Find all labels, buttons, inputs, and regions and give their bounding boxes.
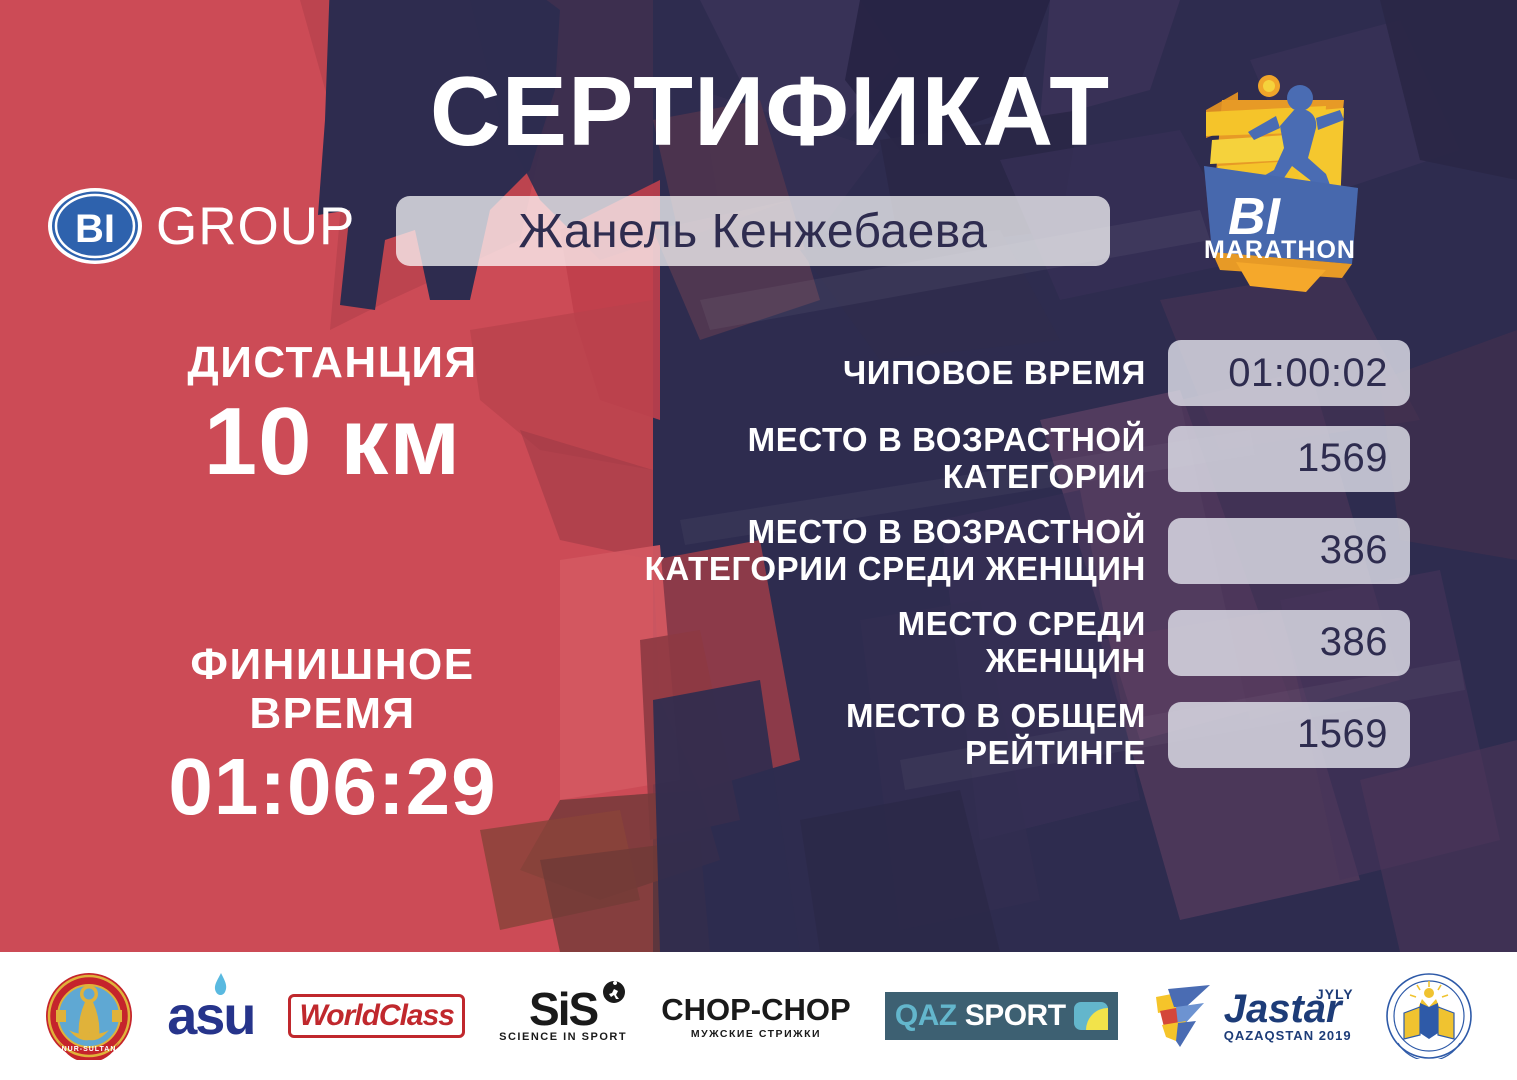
world-class-label-b: Class: [379, 999, 454, 1032]
sponsor-sis-logo: SiS SCIENCE IN SPORT: [499, 970, 627, 1062]
chop-chop-sublabel: МУЖСКИЕ СТРИЖКИ: [661, 1028, 850, 1040]
sponsor-bar: NUR-SULTAN asu WorldClass: [0, 952, 1517, 1080]
result-value: 1569: [1297, 436, 1388, 481]
result-value-pill: 386: [1168, 518, 1410, 584]
bi-marathon-logo: BI MARATHON: [1176, 66, 1404, 298]
result-label: МЕСТО В ВОЗРАСТНОЙ КАТЕГОРИИ: [520, 422, 1168, 496]
qazsport-mark-icon: [1074, 1002, 1108, 1030]
sponsor-qazsport-logo: QAZSPORT: [885, 970, 1118, 1062]
marathon-sub-text: MARATHON: [1204, 236, 1356, 264]
result-value: 386: [1320, 620, 1388, 665]
result-value-pill: 01:00:02: [1168, 340, 1410, 406]
bi-group-logo: BI GROUP: [46, 186, 355, 266]
chop-chop-label: CHOP-CHOP: [661, 992, 850, 1028]
qazsport-label-b: SPORT: [965, 999, 1066, 1033]
sponsor-asu-logo: asu: [167, 970, 254, 1062]
result-label-line2: ЖЕНЩИН: [520, 643, 1146, 680]
result-label: МЕСТО В ВОЗРАСТНОЙ КАТЕГОРИИ СРЕДИ ЖЕНЩИ…: [520, 514, 1168, 588]
sponsor-nur-sultan-emblem: NUR-SULTAN: [45, 970, 133, 1062]
result-label-line1: МЕСТО В ВОЗРАСТНОЙ: [520, 514, 1146, 551]
result-label-line2: КАТЕГОРИИ: [520, 459, 1146, 496]
jastar-jyly-label: JYLY: [1316, 986, 1354, 1002]
jastar-arrow-icon: [1152, 981, 1218, 1051]
bi-badge-icon: BI: [46, 186, 144, 266]
result-row-overall-place: МЕСТО В ОБЩЕМ РЕЙТИНГЕ 1569: [520, 698, 1410, 772]
nur-sultan-label: NUR-SULTAN: [62, 1046, 117, 1053]
result-label-line1: МЕСТО В ВОЗРАСТНОЙ: [520, 422, 1146, 459]
world-class-label-a: World: [299, 999, 378, 1032]
jastar-sublabel: QAZAQSTAN 2019: [1224, 1028, 1352, 1043]
result-label-line1: МЕСТО СРЕДИ: [520, 606, 1146, 643]
sponsor-jastar-jyly-logo: JYLY Jastar QAZAQSTAN 2019: [1152, 970, 1352, 1062]
result-label-line1: МЕСТО В ОБЩЕМ: [520, 698, 1146, 735]
page-title: СЕРТИФИКАТ: [390, 62, 1150, 160]
sponsor-world-class-logo: WorldClass: [288, 970, 465, 1062]
result-value-pill: 1569: [1168, 702, 1410, 768]
result-label-line2: КАТЕГОРИИ СРЕДИ ЖЕНЩИН: [520, 551, 1146, 588]
result-row-chip-time: ЧИПОВОЕ ВРЕМЯ 01:00:02: [520, 340, 1410, 406]
result-label: МЕСТО СРЕДИ ЖЕНЩИН: [520, 606, 1168, 680]
qazsport-label-a: QAZ: [895, 999, 957, 1033]
result-label-line2: РЕЙТИНГЕ: [520, 735, 1146, 772]
result-value: 01:00:02: [1228, 351, 1388, 396]
result-label-line1: ЧИПОВОЕ ВРЕМЯ: [520, 355, 1146, 392]
result-value-pill: 1569: [1168, 426, 1410, 492]
bi-group-label: GROUP: [156, 200, 355, 253]
result-label: ЧИПОВОЕ ВРЕМЯ: [520, 355, 1168, 392]
participant-name-pill: Жанель Кенжебаева: [396, 196, 1110, 266]
sponsor-chop-chop-logo: CHOP-CHOP МУЖСКИЕ СТРИЖКИ: [661, 970, 850, 1062]
participant-name: Жанель Кенжебаева: [519, 204, 988, 259]
result-value-pill: 386: [1168, 610, 1410, 676]
bi-badge-text: BI: [75, 207, 115, 251]
sis-runner-icon: [603, 981, 625, 1003]
results-list: ЧИПОВОЕ ВРЕМЯ 01:00:02 МЕСТО В ВОЗРАСТНО…: [520, 340, 1410, 788]
result-row-age-category-women-place: МЕСТО В ВОЗРАСТНОЙ КАТЕГОРИИ СРЕДИ ЖЕНЩИ…: [520, 514, 1410, 588]
result-value: 386: [1320, 528, 1388, 573]
sponsor-ministry-emblem: [1386, 970, 1472, 1062]
asu-label: asu: [167, 989, 254, 1043]
result-value: 1569: [1297, 712, 1388, 757]
asu-droplet-icon: [212, 973, 230, 997]
result-row-age-category-place: МЕСТО В ВОЗРАСТНОЙ КАТЕГОРИИ 1569: [520, 422, 1410, 496]
certificate: BI GROUP СЕРТИФИКАТ Жанель Кенжебаева: [0, 0, 1517, 1080]
sis-sublabel: SCIENCE IN SPORT: [499, 1031, 627, 1043]
result-row-women-place: МЕСТО СРЕДИ ЖЕНЩИН 386: [520, 606, 1410, 680]
result-label: МЕСТО В ОБЩЕМ РЕЙТИНГЕ: [520, 698, 1168, 772]
